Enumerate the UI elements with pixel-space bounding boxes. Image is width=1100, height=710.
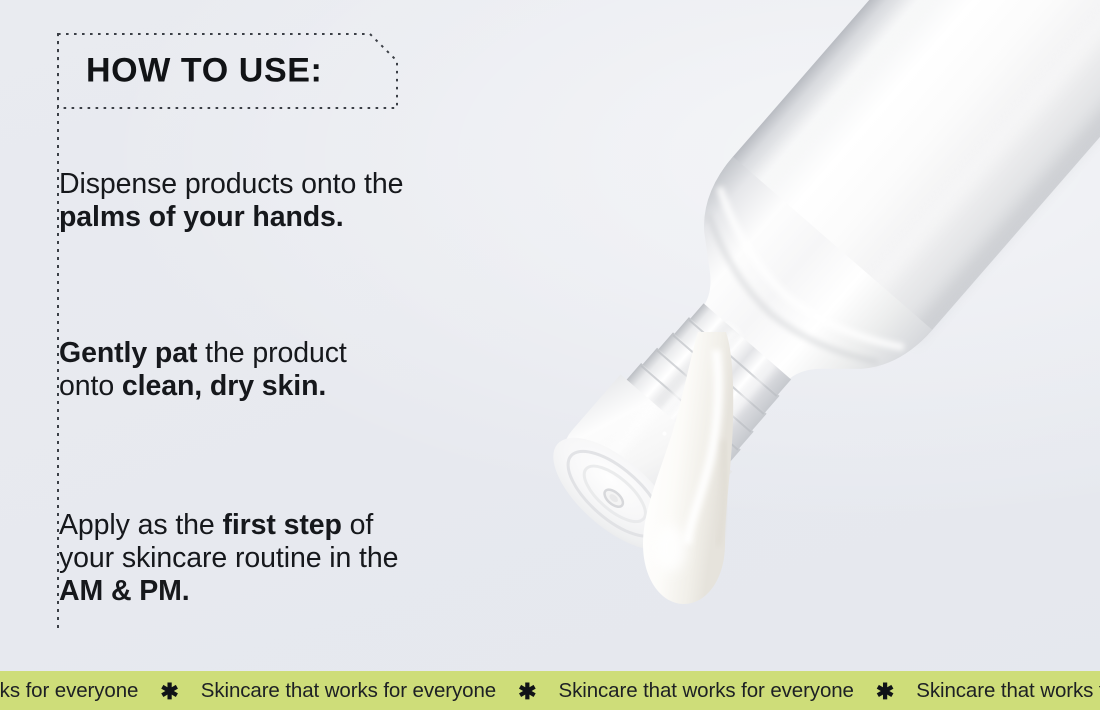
marquee-text: Skincare that works for everyone (559, 679, 854, 703)
step-1-line-1: Dispense products onto the (59, 168, 403, 200)
marquee-text: Skincare that works for everyone (0, 679, 138, 703)
step-1: Dispense products onto the palms of your… (59, 168, 509, 234)
bottom-marquee-banner: Skincare that works for everyone✱Skincar… (0, 671, 1100, 710)
page-canvas: FAE SK✱N HOW TO USE: Dispense products o… (0, 0, 1100, 710)
step-3-bold-2: AM & PM. (59, 575, 190, 607)
marquee-text: Skincare that works for everyone (916, 679, 1100, 703)
marquee-star-icon: ✱ (518, 681, 536, 703)
step-3-bold-1: first step (222, 509, 341, 541)
page-title: HOW TO USE: (86, 52, 322, 91)
step-3-regular-2: of (342, 509, 373, 541)
step-3-regular-3: your skincare routine in the (59, 542, 398, 574)
step-1-line-2: palms of your hands. (59, 201, 344, 233)
how-to-use-heading-box: HOW TO USE: (57, 33, 398, 109)
marquee-star-icon: ✱ (876, 681, 894, 703)
step-2-regular-1: the product (197, 337, 346, 369)
step-2-bold-lead: Gently pat (59, 337, 197, 369)
marquee-text: Skincare that works for everyone (201, 679, 496, 703)
step-2-regular-2: onto (59, 370, 122, 402)
step-2: Gently pat the product onto clean, dry s… (59, 337, 509, 403)
step-2-bold-tail: clean, dry skin. (122, 370, 326, 402)
step-3: Apply as the first step of your skincare… (59, 509, 509, 608)
marquee-star-icon: ✱ (160, 681, 178, 703)
marquee-track: Skincare that works for everyone✱Skincar… (0, 671, 1100, 710)
step-3-regular-1: Apply as the (59, 509, 222, 541)
